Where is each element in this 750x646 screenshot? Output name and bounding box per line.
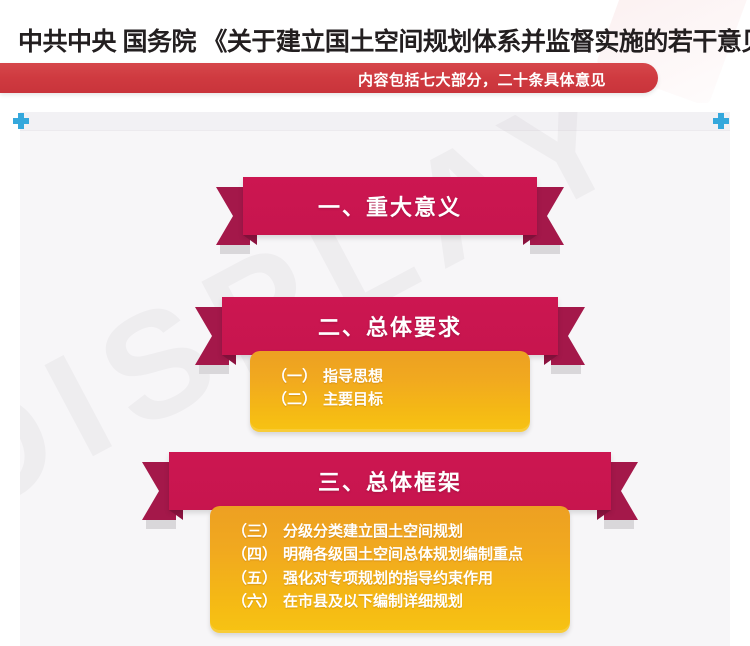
ribbon-tail-shadow-right [530, 245, 560, 254]
content-panel: DISPLAY 一、重大意义 二、总体要求 [20, 112, 730, 646]
list-item[interactable]: （四）明确各级国土空间总体规划编制重点 [232, 543, 548, 566]
ribbon-tail-shadow-right [604, 520, 634, 529]
list-item-number: （一） [272, 368, 317, 385]
ribbon-tail-shadow-left [199, 365, 229, 374]
list-item-label: 在市县及以下编制详细规划 [283, 593, 463, 610]
list-item[interactable]: （六）在市县及以下编制详细规划 [232, 590, 548, 613]
list-item-label: 主要目标 [323, 391, 383, 408]
page-title: 中共中央 国务院 《关于建立国土空间规划体系并监督实施的若干意见》 [18, 22, 734, 58]
list-item-label: 强化对专项规划的指导约束作用 [283, 570, 493, 587]
section-1: 一、重大意义 [216, 177, 564, 235]
section-2-items-box: （一）指导思想 （二）主要目标 [250, 351, 530, 432]
section-1-title: 一、重大意义 [318, 190, 462, 222]
subtitle-text: 内容包括七大部分，二十条具体意见 [358, 69, 606, 90]
list-item-number: （六） [232, 593, 277, 610]
list-item-number: （四） [232, 546, 277, 563]
section-2-ribbon: 二、总体要求 [195, 297, 585, 355]
list-item-number: （二） [272, 391, 317, 408]
section-1-ribbon: 一、重大意义 [216, 177, 564, 235]
ribbon-tail-shadow-left [146, 520, 176, 529]
section-2-title: 二、总体要求 [318, 310, 462, 342]
list-item-label: 指导思想 [323, 368, 383, 385]
cross-horizontal-bar [13, 118, 29, 124]
section-3-title: 三、总体框架 [318, 465, 462, 497]
plus-cross-icon-right [713, 113, 729, 129]
subtitle-banner: 内容包括七大部分，二十条具体意见 [0, 63, 658, 93]
list-item[interactable]: （三）分级分类建立国土空间规划 [232, 520, 548, 543]
content-topbar [20, 112, 730, 131]
list-item[interactable]: （五）强化对专项规划的指导约束作用 [232, 567, 548, 590]
list-item[interactable]: （一）指导思想 [272, 365, 508, 388]
section-3-ribbon-body[interactable]: 三、总体框架 [169, 452, 611, 510]
section-3-ribbon: 三、总体框架 [142, 452, 638, 510]
ribbon-tail-shadow-right [551, 365, 581, 374]
plus-cross-icon-left [13, 113, 29, 129]
list-item-label: 明确各级国土空间总体规划编制重点 [283, 546, 523, 563]
section-1-ribbon-body[interactable]: 一、重大意义 [243, 177, 537, 235]
ribbon-tail-shadow-left [220, 245, 250, 254]
section-3: 三、总体框架 （三）分级分类建立国土空间规划 （四）明确各级国土空间总体规划编制… [142, 452, 638, 633]
list-item[interactable]: （二）主要目标 [272, 388, 508, 411]
list-item-number: （五） [232, 570, 277, 587]
list-item-number: （三） [232, 523, 277, 540]
cross-horizontal-bar [713, 118, 729, 124]
section-3-items-box: （三）分级分类建立国土空间规划 （四）明确各级国土空间总体规划编制重点 （五）强… [210, 506, 570, 633]
section-2: 二、总体要求 （一）指导思想 （二）主要目标 [195, 297, 585, 432]
section-2-ribbon-body[interactable]: 二、总体要求 [222, 297, 558, 355]
page-header: 中共中央 国务院 《关于建立国土空间规划体系并监督实施的若干意见》 内容包括七大… [0, 0, 750, 103]
list-item-label: 分级分类建立国土空间规划 [283, 523, 463, 540]
